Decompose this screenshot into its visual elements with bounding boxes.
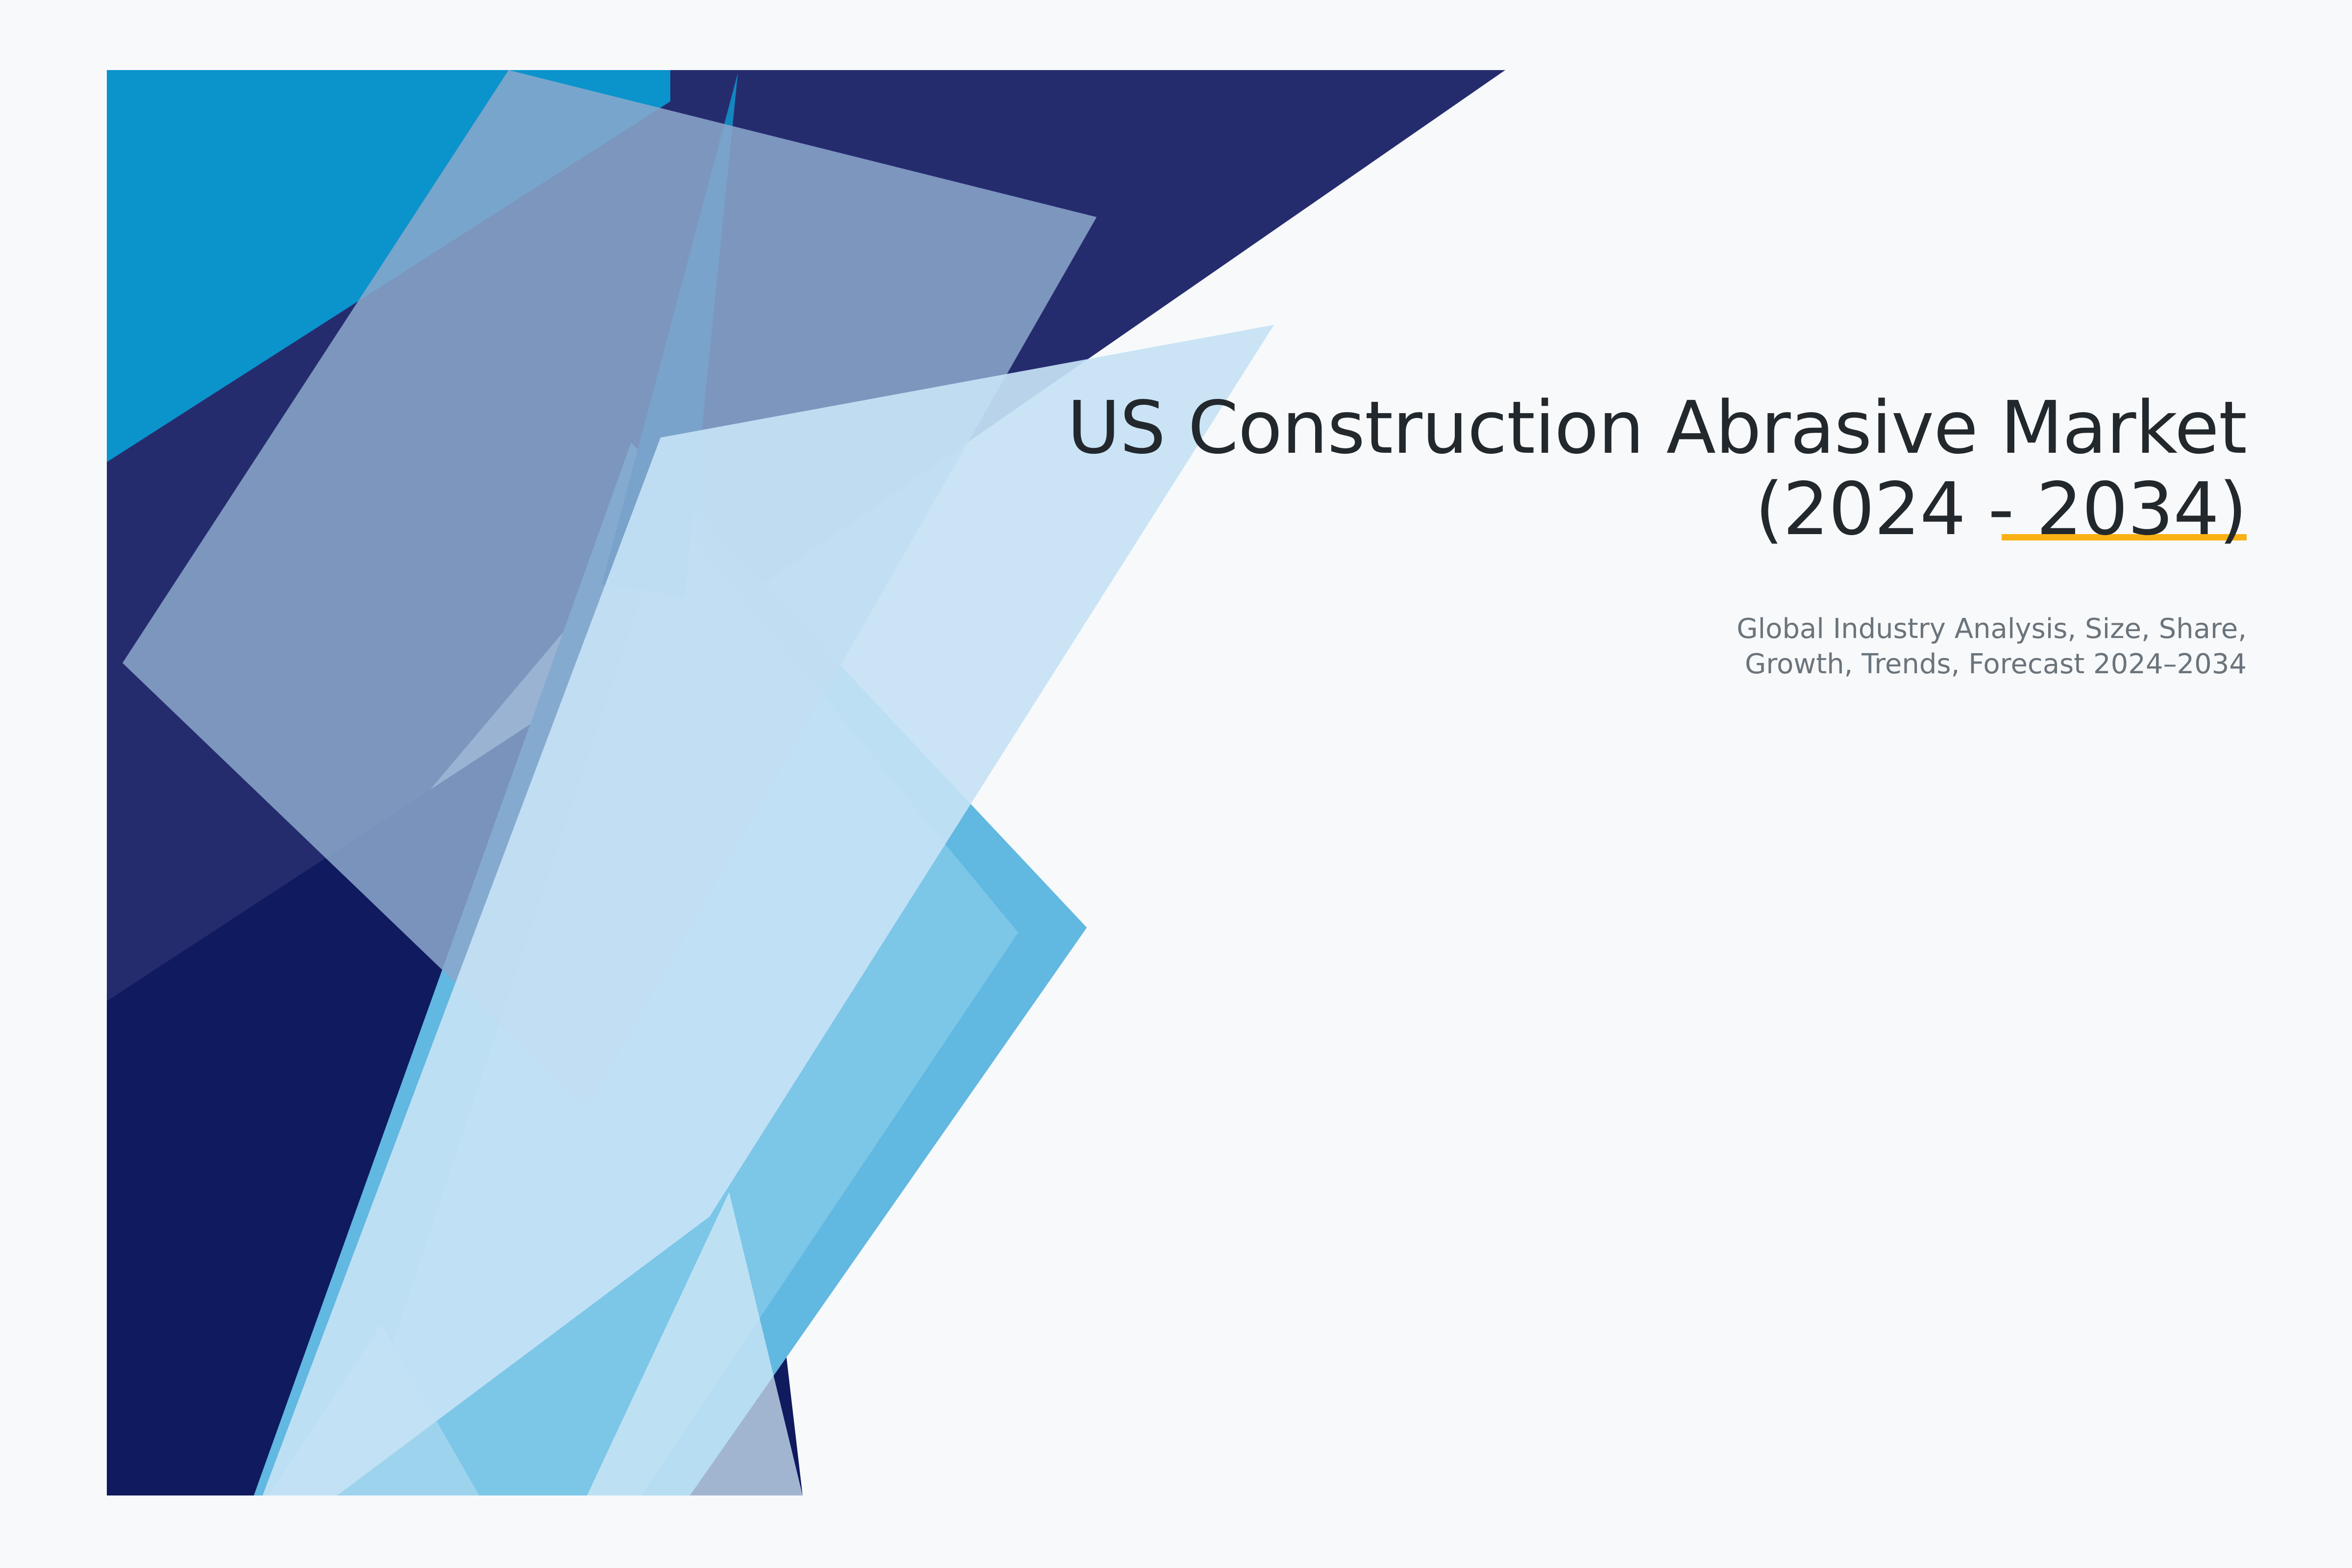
- cover-text-block: US Construction Abrasive Market (2024 - …: [1004, 387, 2247, 682]
- report-subtitle: Global Industry Analysis, Size, Share, G…: [1004, 612, 2247, 682]
- report-title: US Construction Abrasive Market (2024 - …: [1004, 387, 2247, 550]
- report-subtitle-line-1: Global Industry Analysis, Size, Share,: [1004, 612, 2247, 647]
- abstract-geometric-artwork: [107, 70, 1505, 1495]
- report-title-line-1: US Construction Abrasive Market: [1004, 387, 2247, 468]
- report-title-line-2: (2024 - 2034): [1004, 468, 2247, 550]
- report-subtitle-line-2: Growth, Trends, Forecast 2024–2034: [1004, 647, 2247, 682]
- report-cover: US Construction Abrasive Market (2024 - …: [0, 0, 2352, 1568]
